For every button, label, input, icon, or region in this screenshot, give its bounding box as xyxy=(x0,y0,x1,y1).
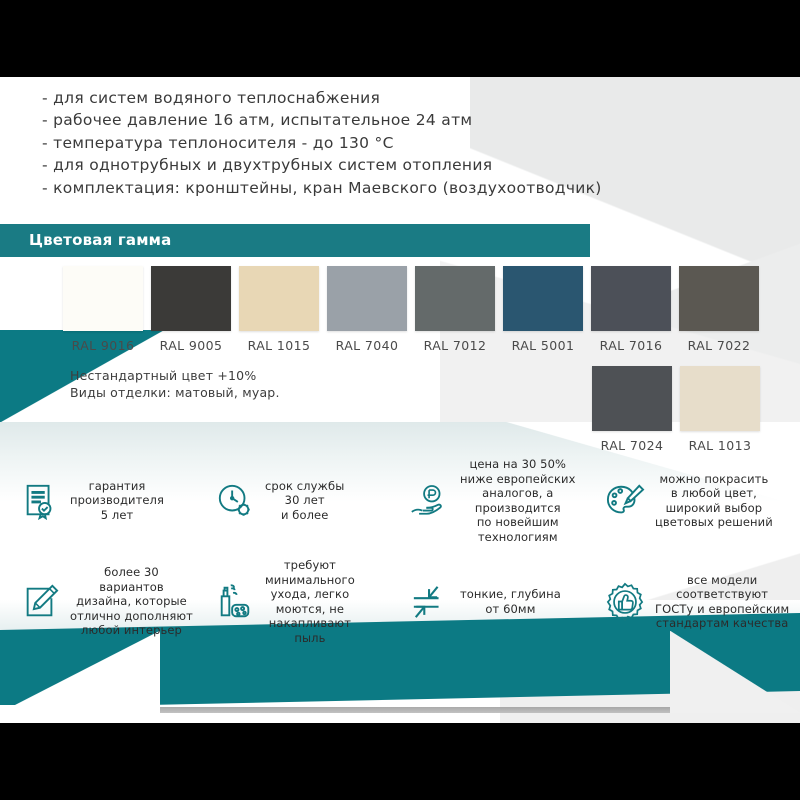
feature-text: срок службы30 лети более xyxy=(265,479,344,523)
spray-sponge-icon xyxy=(213,580,257,624)
feature-text-line: ухода, легко xyxy=(265,587,355,602)
feature-text-line: гарантия xyxy=(70,479,164,494)
color-swatch-chip xyxy=(679,266,759,331)
palette-swatch-row-2: RAL 7024RAL 1013 xyxy=(592,366,760,453)
feature-text: тонкие, глубинаот 60мм xyxy=(460,587,561,616)
feature-text-line: широкий выбор xyxy=(655,501,773,516)
color-swatch: RAL 5001 xyxy=(503,266,583,353)
feature-text-line: производится xyxy=(460,501,576,516)
feature-text-line: пыль xyxy=(265,631,355,646)
feature-item: все моделисоответствуютГОСТу и европейск… xyxy=(599,558,794,645)
spec-item: для систем водяного теплоснабжения xyxy=(42,87,642,109)
color-swatch-chip xyxy=(415,266,495,331)
color-swatch-chip xyxy=(327,266,407,331)
color-swatch: RAL 9016 xyxy=(63,266,143,353)
palette-section-header: Цветовая гамма xyxy=(0,224,590,257)
feature-text: требуютминимальногоухода, легкомоются, н… xyxy=(265,558,355,645)
feature-text-line: требуют xyxy=(265,558,355,573)
color-swatch-chip xyxy=(503,266,583,331)
spec-item: температура теплоносителя - до 130 °C xyxy=(42,132,642,154)
feature-text-line: вариантов xyxy=(70,580,193,595)
spec-item: рабочее давление 16 атм, испытательное 2… xyxy=(42,109,642,131)
color-swatch: RAL 7024 xyxy=(592,366,672,453)
feature-text-line: накапливают xyxy=(265,616,355,631)
color-swatch-chip xyxy=(151,266,231,331)
feature-text-line: ниже европейских xyxy=(460,472,576,487)
feature-text-line: 30 лет xyxy=(265,493,344,508)
feature-text-line: любой интерьер xyxy=(70,623,193,638)
spec-item: комплектация: кронштейны, кран Маевского… xyxy=(42,177,642,199)
compress-arrows-icon xyxy=(408,580,452,624)
feature-text-line: в любой цвет, xyxy=(655,486,773,501)
color-swatch: RAL 7040 xyxy=(327,266,407,353)
color-swatch: RAL 7012 xyxy=(415,266,495,353)
color-swatch-label: RAL 1015 xyxy=(239,338,319,353)
feature-text-line: цветовых решений xyxy=(655,515,773,530)
palette-section-title: Цветовая гамма xyxy=(29,231,171,249)
color-swatch-label: RAL 1013 xyxy=(680,438,760,453)
color-swatch-label: RAL 7012 xyxy=(415,338,495,353)
feature-item: срок службы30 лети более xyxy=(209,457,404,544)
feature-text-line: соответствуют xyxy=(655,587,789,602)
color-swatch: RAL 1013 xyxy=(680,366,760,453)
palette-note: Виды отделки: матовый, муар. xyxy=(70,384,280,401)
color-swatch-label: RAL 9016 xyxy=(63,338,143,353)
color-swatch-label: RAL 7022 xyxy=(679,338,759,353)
palette-notes: Нестандартный цвет +10% Виды отделки: ма… xyxy=(70,367,280,401)
feature-text-line: по новейшим xyxy=(460,515,576,530)
spec-item: для однотрубных и двухтрубных систем ото… xyxy=(42,154,642,176)
color-swatch: RAL 9005 xyxy=(151,266,231,353)
feature-text-line: моются, не xyxy=(265,602,355,617)
feature-text-line: минимального xyxy=(265,573,355,588)
hand-ruble-icon xyxy=(408,479,452,523)
pencil-design-icon xyxy=(18,580,62,624)
color-swatch-chip xyxy=(592,366,672,431)
slide-canvas: для систем водяного теплоснабжения рабоч… xyxy=(0,77,800,723)
feature-grid: гарантияпроизводителя5 лет срок службы30… xyxy=(14,457,794,645)
feature-text-line: все модели xyxy=(655,573,789,588)
clock-gear-icon xyxy=(213,479,257,523)
feature-text: гарантияпроизводителя5 лет xyxy=(70,479,164,523)
feature-text-line: аналогов, а xyxy=(460,486,576,501)
color-swatch: RAL 1015 xyxy=(239,266,319,353)
color-swatch-label: RAL 7040 xyxy=(327,338,407,353)
feature-text-line: технологиям xyxy=(460,530,576,545)
color-swatch-label: RAL 9005 xyxy=(151,338,231,353)
feature-text: цена на 30 50%ниже европейскиханалогов, … xyxy=(460,457,576,544)
color-swatch-chip xyxy=(239,266,319,331)
color-swatch-chip xyxy=(680,366,760,431)
feature-text-line: дизайна, которые xyxy=(70,594,193,609)
feature-item: цена на 30 50%ниже европейскиханалогов, … xyxy=(404,457,599,544)
palette-brush-icon xyxy=(603,479,647,523)
feature-item: тонкие, глубинаот 60мм xyxy=(404,558,599,645)
feature-text-line: цена на 30 50% xyxy=(460,457,576,472)
feature-text-line: производителя xyxy=(70,493,164,508)
feature-text-line: тонкие, глубина xyxy=(460,587,561,602)
specification-list: для систем водяного теплоснабжения рабоч… xyxy=(42,87,642,199)
color-swatch-label: RAL 7024 xyxy=(592,438,672,453)
color-swatch-label: RAL 5001 xyxy=(503,338,583,353)
color-swatch: RAL 7022 xyxy=(679,266,759,353)
decor-footer-shadow xyxy=(150,707,695,713)
feature-text-line: отлично дополняют xyxy=(70,609,193,624)
feature-item: можно покраситьв любой цвет,широкий выбо… xyxy=(599,457,794,544)
palette-swatch-row-1: RAL 9016RAL 9005RAL 1015RAL 7040RAL 7012… xyxy=(63,266,759,353)
feature-text-line: от 60мм xyxy=(460,602,561,617)
feature-text-line: ГОСТу и европейским xyxy=(655,602,789,617)
feature-text: можно покраситьв любой цвет,широкий выбо… xyxy=(655,472,773,530)
certificate-icon xyxy=(18,479,62,523)
feature-text-line: 5 лет xyxy=(70,508,164,523)
color-swatch-chip xyxy=(63,266,143,331)
color-swatch: RAL 7016 xyxy=(591,266,671,353)
feature-text: более 30вариантовдизайна, которыеотлично… xyxy=(70,565,193,638)
color-swatch-label: RAL 7016 xyxy=(591,338,671,353)
feature-item: более 30вариантовдизайна, которыеотлично… xyxy=(14,558,209,645)
feature-item: требуютминимальногоухода, легкомоются, н… xyxy=(209,558,404,645)
feature-text-line: срок службы xyxy=(265,479,344,494)
palette-note: Нестандартный цвет +10% xyxy=(70,367,280,384)
feature-text-line: и более xyxy=(265,508,344,523)
feature-text-line: более 30 xyxy=(70,565,193,580)
color-swatch-chip xyxy=(591,266,671,331)
feature-text-line: можно покрасить xyxy=(655,472,773,487)
feature-text: все моделисоответствуютГОСТу и европейск… xyxy=(655,573,789,631)
quality-thumbsup-icon xyxy=(603,580,647,624)
feature-item: гарантияпроизводителя5 лет xyxy=(14,457,209,544)
feature-text-line: стандартам качества xyxy=(655,616,789,631)
